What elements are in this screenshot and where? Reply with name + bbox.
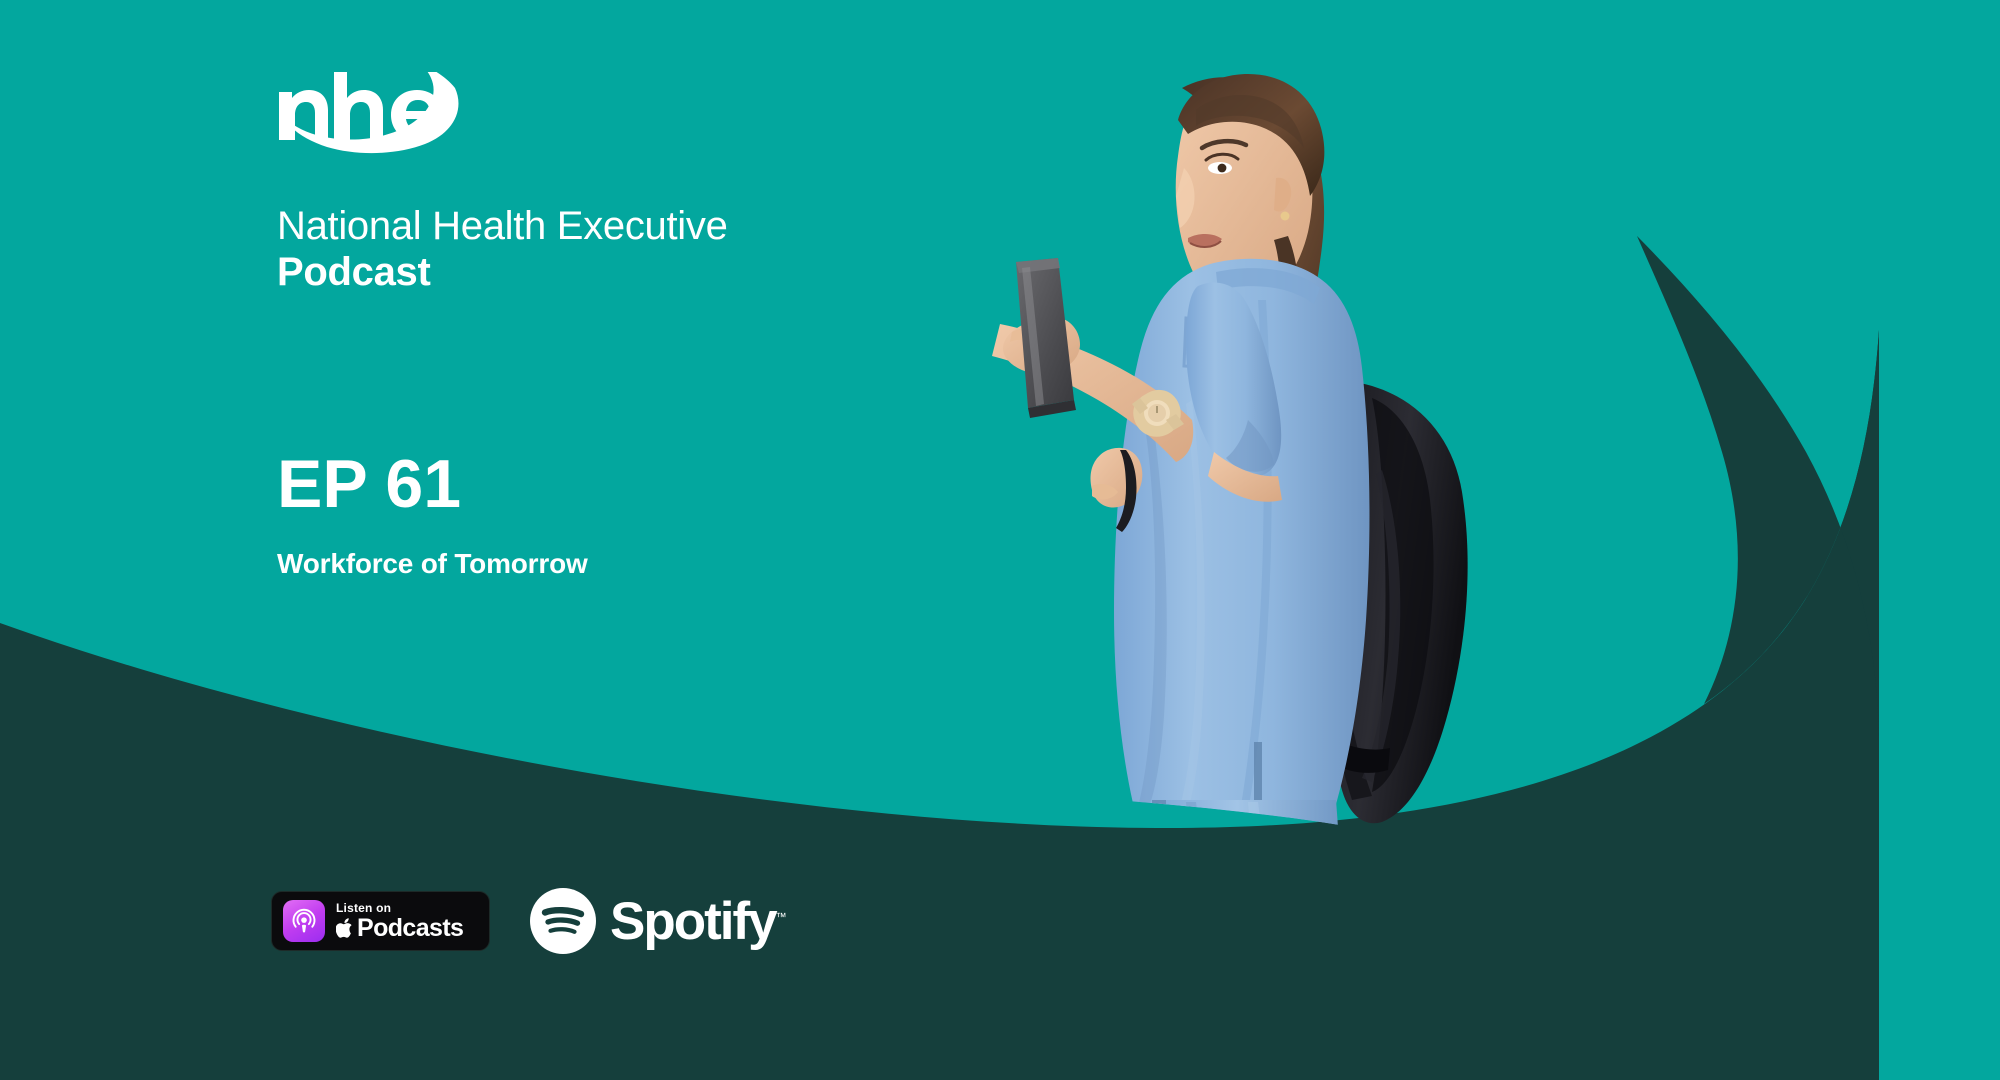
apple-logo-icon <box>336 917 355 940</box>
figure-group <box>992 74 1468 940</box>
spotify-wordmark: Spotify <box>610 892 776 951</box>
spotify-icon <box>530 888 596 954</box>
spotify-label: Spotify™ <box>610 895 787 948</box>
tablet-device <box>1016 258 1076 418</box>
brand-name: National Health Executive <box>277 205 897 247</box>
apple-podcasts-icon <box>283 900 325 942</box>
episode-number: EP 61 <box>277 450 977 518</box>
episode-title: Workforce of Tomorrow <box>277 548 977 580</box>
apple-podcasts-badge[interactable]: Listen on Podcasts <box>271 891 490 951</box>
podcast-cover-artwork: National Health Executive Podcast EP 61 … <box>0 0 2000 1080</box>
brand-block: National Health Executive Podcast <box>277 72 897 293</box>
apple-listen-label: Listen on <box>336 902 463 914</box>
brand-subtitle: Podcast <box>277 251 897 293</box>
episode-block: EP 61 Workforce of Tomorrow <box>277 450 977 580</box>
spotify-badge[interactable]: Spotify™ <box>530 888 787 954</box>
apple-platform-label: Podcasts <box>357 916 463 941</box>
spotify-trademark: ™ <box>776 911 787 923</box>
apple-badge-text: Listen on Podcasts <box>336 902 463 941</box>
scrub-trousers <box>1151 800 1342 940</box>
listen-badges-row: Listen on Podcasts Spotify™ <box>271 888 787 954</box>
nhe-logo-swoosh-icon <box>277 72 462 167</box>
